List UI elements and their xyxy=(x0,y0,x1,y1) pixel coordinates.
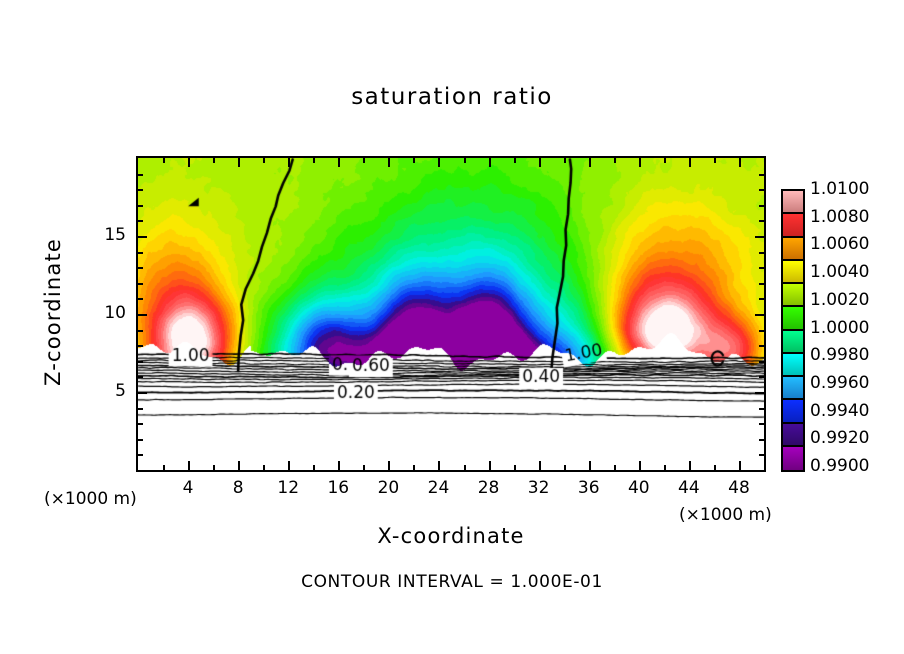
y-axis-title: Z-coordinate xyxy=(41,212,65,412)
x-axis-tick xyxy=(564,156,566,163)
x-axis-tick xyxy=(514,156,516,163)
x-axis-tick xyxy=(514,465,516,472)
y-axis-tick xyxy=(759,220,766,222)
y-tick-label: 5 xyxy=(86,381,126,401)
colorbar-tick-label: 0.9900 xyxy=(810,456,869,476)
colorbar-tick-label: 1.0100 xyxy=(810,179,869,199)
x-axis-tick xyxy=(464,465,466,472)
x-axis-title: X-coordinate xyxy=(136,524,766,548)
x-axis-tick xyxy=(489,461,491,472)
x-axis-tick xyxy=(363,465,365,472)
x-axis-tick xyxy=(288,461,290,472)
x-units-right-label: (×1000 m) xyxy=(679,505,772,525)
x-axis-tick xyxy=(213,465,215,472)
y-axis-tick xyxy=(136,314,147,316)
x-axis-tick xyxy=(163,156,165,163)
y-axis-tick xyxy=(136,423,143,425)
x-axis-tick xyxy=(413,156,415,163)
x-tick-label: 24 xyxy=(413,478,463,498)
x-axis-tick xyxy=(213,156,215,163)
x-axis-tick xyxy=(313,465,315,472)
colorbar-tick-label: 0.9980 xyxy=(810,345,869,365)
y-axis-tick xyxy=(136,376,143,378)
colorbar-tick-label: 1.0000 xyxy=(810,318,869,338)
x-axis-tick xyxy=(689,461,691,472)
y-tick-label: 15 xyxy=(86,225,126,245)
colorbar-tick-label: 1.0080 xyxy=(810,207,869,227)
y-axis-tick xyxy=(759,408,766,410)
colorbar-tick-label: 1.0020 xyxy=(810,290,869,310)
y-axis-tick xyxy=(136,205,143,207)
colorbar-band xyxy=(783,261,803,284)
x-axis-tick xyxy=(188,461,190,472)
colorbar-band xyxy=(783,354,803,377)
x-axis-tick xyxy=(739,461,741,472)
y-axis-tick xyxy=(136,408,143,410)
x-axis-tick xyxy=(238,156,240,167)
y-axis-tick xyxy=(759,376,766,378)
colorbar-band xyxy=(783,238,803,261)
y-axis-tick xyxy=(759,454,766,456)
x-axis-tick xyxy=(313,156,315,163)
x-axis-tick xyxy=(614,156,616,163)
colorbar-band xyxy=(783,331,803,354)
y-axis-tick xyxy=(136,283,143,285)
colorbar xyxy=(781,189,805,472)
y-axis-tick xyxy=(755,392,766,394)
x-axis-tick xyxy=(413,465,415,472)
x-axis-tick xyxy=(338,461,340,472)
y-axis-tick xyxy=(136,345,143,347)
x-axis-tick xyxy=(689,156,691,167)
colorbar-tick-label: 0.9940 xyxy=(810,401,869,421)
x-axis-tick xyxy=(163,465,165,472)
plot-area xyxy=(136,156,766,472)
x-axis-tick xyxy=(589,156,591,167)
y-axis-tick xyxy=(136,174,143,176)
x-axis-tick xyxy=(539,461,541,472)
y-axis-tick xyxy=(759,267,766,269)
y-axis-tick xyxy=(136,330,143,332)
colorbar-band xyxy=(783,284,803,307)
x-axis-tick xyxy=(388,156,390,167)
y-axis-tick xyxy=(759,174,766,176)
x-axis-tick xyxy=(363,156,365,163)
y-axis-tick xyxy=(136,236,147,238)
x-axis-tick xyxy=(714,465,716,472)
x-axis-tick xyxy=(589,461,591,472)
x-axis-tick xyxy=(664,465,666,472)
x-axis-tick xyxy=(263,156,265,163)
x-axis-tick xyxy=(639,156,641,167)
x-axis-tick xyxy=(614,465,616,472)
x-tick-label: 36 xyxy=(564,478,614,498)
x-units-left-label: (×1000 m) xyxy=(44,489,137,509)
contour-interval-caption: CONTOUR INTERVAL = 1.000E-01 xyxy=(0,572,904,592)
x-axis-tick xyxy=(714,156,716,163)
x-axis-tick xyxy=(338,156,340,167)
y-axis-tick xyxy=(136,267,143,269)
x-tick-label: 20 xyxy=(363,478,413,498)
contour-lines-canvas xyxy=(138,158,764,470)
y-axis-tick xyxy=(136,189,143,191)
x-tick-label: 16 xyxy=(313,478,363,498)
y-axis-tick xyxy=(759,423,766,425)
figure-container: saturation ratio 48121620242832364044485… xyxy=(0,0,904,654)
y-axis-tick xyxy=(136,392,147,394)
x-axis-tick xyxy=(188,156,190,167)
x-axis-tick xyxy=(388,461,390,472)
y-axis-tick xyxy=(136,439,143,441)
colorbar-band xyxy=(783,377,803,400)
y-axis-tick xyxy=(759,189,766,191)
y-axis-tick xyxy=(759,205,766,207)
x-tick-label: 40 xyxy=(614,478,664,498)
y-tick-label: 10 xyxy=(86,303,126,323)
y-axis-tick xyxy=(136,454,143,456)
x-tick-label: 4 xyxy=(163,478,213,498)
x-tick-label: 48 xyxy=(714,478,764,498)
x-axis-tick xyxy=(263,465,265,472)
y-axis-tick xyxy=(759,439,766,441)
y-axis-tick xyxy=(759,330,766,332)
colorbar-tick-label: 0.9920 xyxy=(810,428,869,448)
y-axis-tick xyxy=(136,298,143,300)
x-axis-tick xyxy=(489,156,491,167)
x-axis-tick xyxy=(464,156,466,163)
x-tick-label: 32 xyxy=(514,478,564,498)
colorbar-tick-label: 0.9960 xyxy=(810,373,869,393)
y-axis-tick xyxy=(759,283,766,285)
y-axis-tick xyxy=(755,236,766,238)
y-axis-tick xyxy=(136,252,143,254)
page-title: saturation ratio xyxy=(0,84,904,110)
x-axis-tick xyxy=(739,156,741,167)
x-axis-tick xyxy=(438,461,440,472)
y-axis-tick xyxy=(759,345,766,347)
x-axis-tick xyxy=(238,461,240,472)
colorbar-band xyxy=(783,191,803,214)
y-axis-tick xyxy=(136,220,143,222)
colorbar-band xyxy=(783,447,803,470)
colorbar-band xyxy=(783,307,803,330)
y-axis-tick xyxy=(759,361,766,363)
x-axis-tick xyxy=(288,156,290,167)
y-axis-tick xyxy=(755,314,766,316)
colorbar-tick-label: 1.0060 xyxy=(810,234,869,254)
colorbar-band xyxy=(783,214,803,237)
x-tick-label: 8 xyxy=(213,478,263,498)
colorbar-band xyxy=(783,424,803,447)
x-tick-label: 28 xyxy=(464,478,514,498)
colorbar-tick-label: 1.0040 xyxy=(810,262,869,282)
x-tick-label: 44 xyxy=(664,478,714,498)
x-axis-tick xyxy=(664,156,666,163)
x-tick-label: 12 xyxy=(263,478,313,498)
y-axis-tick xyxy=(136,361,143,363)
x-axis-tick xyxy=(564,465,566,472)
x-axis-tick xyxy=(539,156,541,167)
x-axis-tick xyxy=(639,461,641,472)
y-axis-tick xyxy=(759,252,766,254)
y-axis-tick xyxy=(759,298,766,300)
x-axis-tick xyxy=(438,156,440,167)
colorbar-band xyxy=(783,400,803,423)
